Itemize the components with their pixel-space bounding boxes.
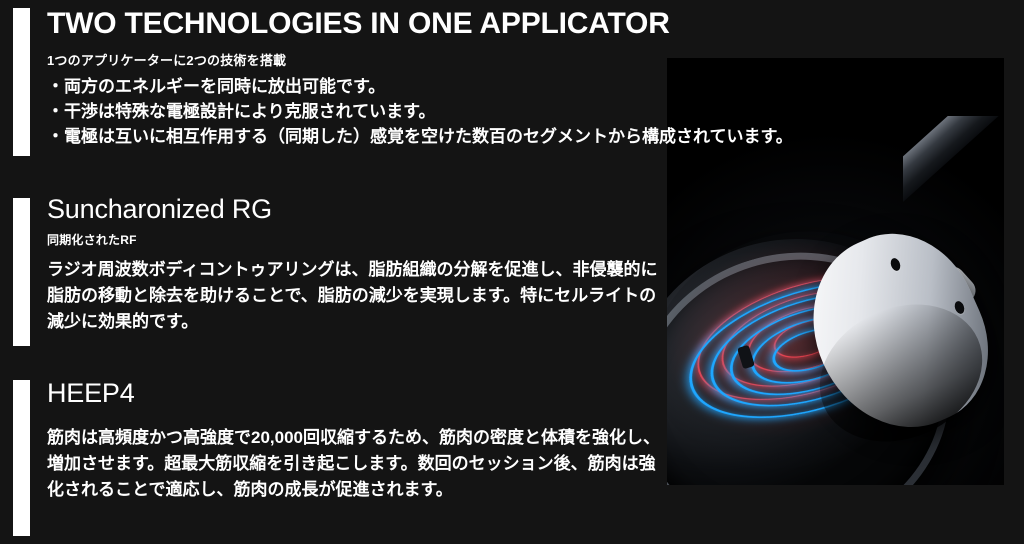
section-body: Suncharonized RG 同期化されたRF ラジオ周波数ボディコントゥア… <box>47 194 667 334</box>
section-title: HEEP4 <box>47 378 667 409</box>
list-item: ・干渉は特殊な電極設計により克服されています。 <box>47 100 793 125</box>
accent-bar <box>13 380 30 536</box>
bullet-list: ・両方のエネルギーを同時に放出可能です。 ・干渉は特殊な電極設計により克服されて… <box>47 75 793 149</box>
section-body: HEEP4 筋肉は高頻度かつ高強度で20,000回収縮するため、筋肉の密度と体積… <box>47 378 667 502</box>
accent-bar <box>13 8 30 156</box>
accent-bar <box>13 198 30 346</box>
list-item: ・電極は互いに相互作用する（同期した）感覚を空けた数百のセグメントから構成されて… <box>47 125 793 150</box>
list-item: ・両方のエネルギーを同時に放出可能です。 <box>47 75 793 100</box>
section-subtitle: 同期化されたRF <box>47 231 667 248</box>
section-paragraph: 筋肉は高頻度かつ高強度で20,000回収縮するため、筋肉の密度と体積を強化し、増… <box>47 425 667 502</box>
section-title: Suncharonized RG <box>47 194 667 225</box>
page-title: TWO TECHNOLOGIES IN ONE APPLICATOR <box>47 6 793 41</box>
section-paragraph: ラジオ周波数ボディコントゥアリングは、脂肪組織の分解を促進し、非侵襲的に脂肪の移… <box>47 257 667 334</box>
section-body: TWO TECHNOLOGIES IN ONE APPLICATOR 1つのアプ… <box>47 6 793 149</box>
lead-text: 1つのアプリケーターに2つの技術を搭載 <box>47 50 793 69</box>
content-column: TWO TECHNOLOGIES IN ONE APPLICATOR 1つのアプ… <box>0 0 1024 544</box>
